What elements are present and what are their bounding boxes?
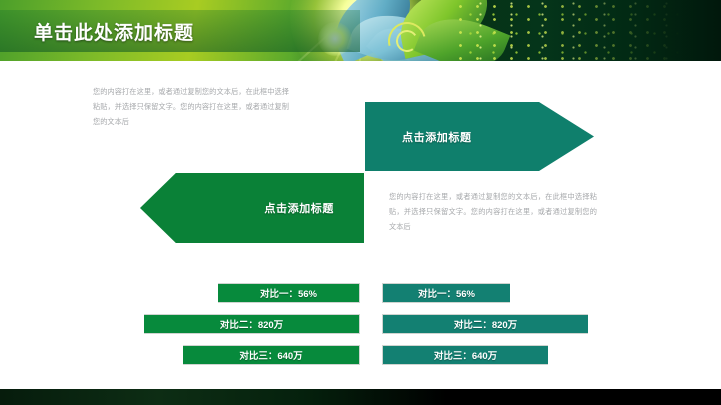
arrow-banner-right-label: 点击添加标题 xyxy=(402,129,472,145)
bar-right-1[interactable]: 对比一：56% xyxy=(382,283,510,303)
bar-right-3-label: 对比三：640万 xyxy=(434,348,497,362)
bar-left-3-label: 对比三：640万 xyxy=(239,348,302,362)
slide-canvas: 单击此处添加标题 您的内容打在这里，或者通过复制您的文本后，在此框中选择粘贴，并… xyxy=(0,0,721,405)
paragraph-right: 您的内容打在这里，或者通过复制您的文本后，在此框中选择粘贴，并选择只保留文字。您… xyxy=(389,189,597,234)
paragraph-left: 您的内容打在这里，或者通过复制您的文本后，在此框中选择粘贴，并选择只保留文字。您… xyxy=(93,84,289,129)
bar-right-2-label: 对比二：820万 xyxy=(454,317,517,331)
header-banner: 单击此处添加标题 xyxy=(0,0,721,61)
arrow-banner-left-label: 点击添加标题 xyxy=(264,200,334,216)
particle-texture xyxy=(452,0,682,61)
comparison-bar-chart: 对比一：56% 对比二：820万 对比三：640万 对比一：56% 对比二：82… xyxy=(0,283,721,365)
arrow-banner-left[interactable]: 点击添加标题 xyxy=(140,173,364,243)
bar-left-3[interactable]: 对比三：640万 xyxy=(183,345,360,365)
bar-right-3[interactable]: 对比三：640万 xyxy=(382,345,548,365)
bar-left-1[interactable]: 对比一：56% xyxy=(218,283,360,303)
bar-left-2[interactable]: 对比二：820万 xyxy=(144,314,360,334)
bar-left-2-label: 对比二：820万 xyxy=(220,317,283,331)
page-title: 单击此处添加标题 xyxy=(34,18,194,45)
bar-left-1-label: 对比一：56% xyxy=(260,286,317,300)
bar-right-2[interactable]: 对比二：820万 xyxy=(382,314,588,334)
arrow-banner-right[interactable]: 点击添加标题 xyxy=(365,102,594,171)
footer-bar xyxy=(0,389,721,405)
bar-right-1-label: 对比一：56% xyxy=(418,286,475,300)
